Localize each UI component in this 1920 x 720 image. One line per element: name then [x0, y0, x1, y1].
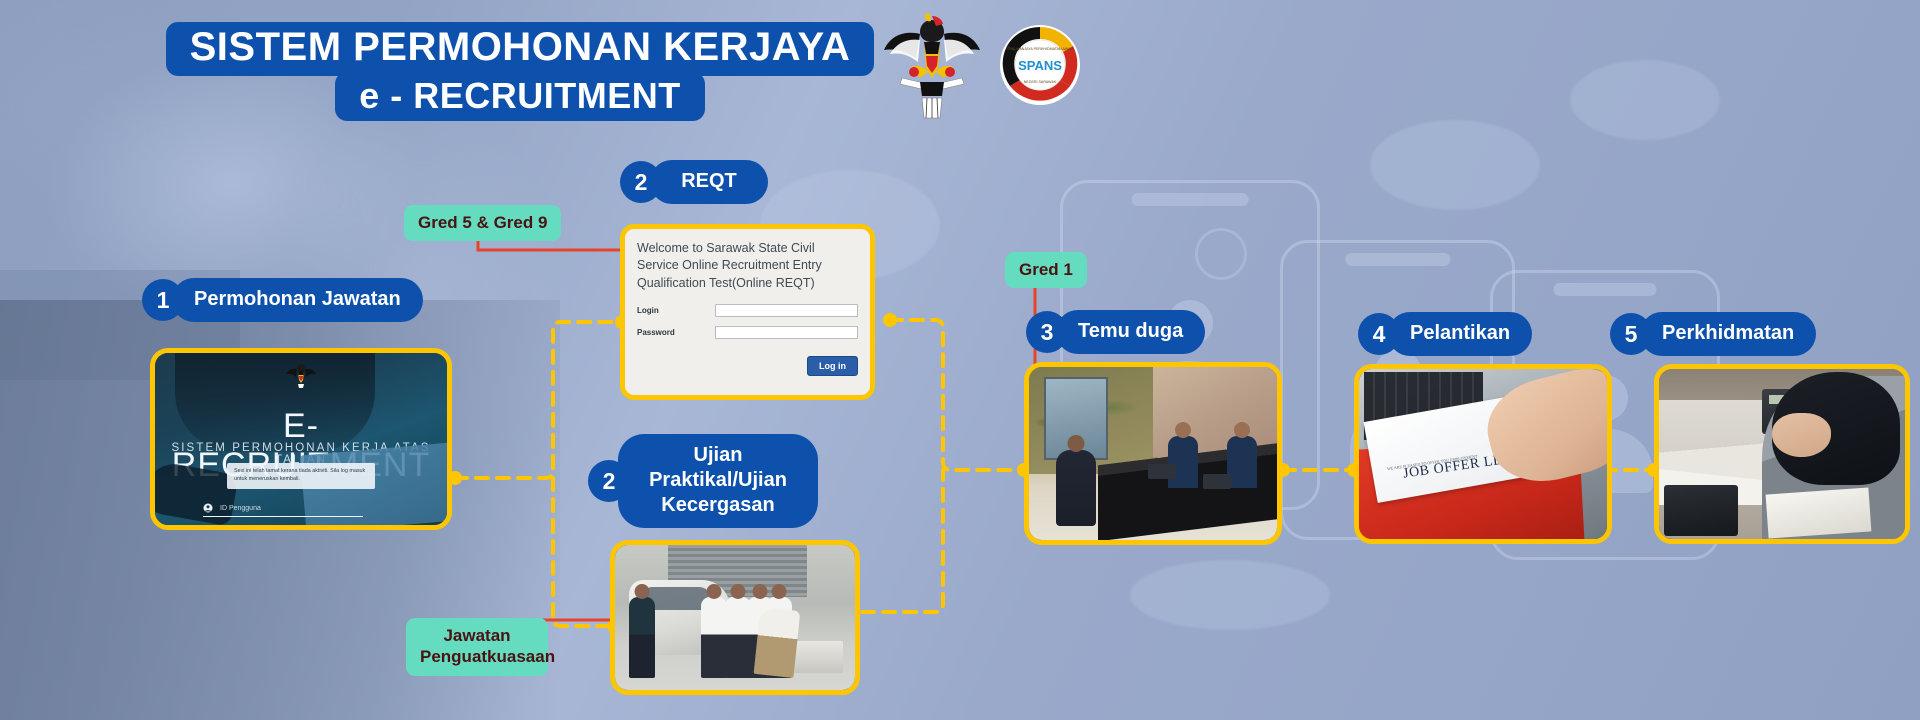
step-3-number: 3	[1026, 311, 1068, 353]
step-3-temu-duga[interactable]: 3 Temu duga	[1026, 310, 1205, 354]
reqt-password-row: Password	[637, 326, 858, 339]
step-5-number: 5	[1610, 313, 1652, 355]
infographic-canvas: SISTEM PERMOHONAN KERJAYA e - RECRUITMEN…	[0, 0, 1920, 720]
reqt-login-label: Login	[637, 306, 715, 315]
reqt-login-panel[interactable]: Welcome to Sarawak State Civil Service O…	[620, 224, 875, 400]
reqt-password-input[interactable]	[715, 326, 858, 339]
step-3-label: Temu duga	[1056, 310, 1205, 354]
title-line-1: SISTEM PERMOHONAN KERJAYA	[166, 22, 875, 76]
badge-watermark	[1195, 228, 1247, 280]
step-2-ujian-praktikal[interactable]: 2 Ujian Praktikal/Ujian Kecergasan	[588, 434, 818, 528]
reqt-login-input[interactable]	[715, 304, 858, 317]
user-circle-icon	[203, 503, 213, 513]
card-temu-duga-photo[interactable]	[1024, 362, 1282, 545]
photo-interview	[1029, 367, 1277, 540]
step-1-number: 1	[142, 279, 184, 321]
reqt-welcome-text: Welcome to Sarawak State Civil Service O…	[637, 240, 858, 292]
reqt-password-label: Password	[637, 328, 715, 337]
step-2-ujian-label: Ujian Praktikal/Ujian Kecergasan	[618, 434, 818, 528]
step-2-ujian-number: 2	[588, 460, 630, 502]
lock-icon	[203, 529, 213, 530]
logo-group: SPANS SURUHANJAYA PERKHIDMATAN AWAM NEGE…	[880, 6, 1082, 124]
step-1-permohonan-jawatan[interactable]: 1 Permohonan Jawatan	[142, 278, 423, 322]
step-2-reqt-number: 2	[620, 161, 662, 203]
photo-offer-letter: WE ARE PLEASED TO OFFER YOU EMPLOYMENT J…	[1359, 369, 1607, 539]
erec-user-field[interactable]: ID Pengguna	[203, 503, 363, 517]
step-2-reqt[interactable]: 2 REQT	[620, 160, 768, 204]
photo-service	[1659, 369, 1905, 539]
page-title: SISTEM PERMOHONAN KERJAYA e - RECRUITMEN…	[160, 22, 880, 121]
blob-watermark-4	[1130, 560, 1330, 630]
note-gred-1: Gred 1	[1005, 252, 1087, 288]
blob-watermark-1	[1370, 120, 1540, 210]
step-5-label: Perkhidmatan	[1640, 312, 1816, 356]
note-gred-1-text: Gred 1	[1019, 260, 1073, 279]
erec-session-message: Sesi ini telah tamat kerana tiada aktivi…	[227, 463, 375, 489]
card-pelantikan-photo[interactable]: WE ARE PLEASED TO OFFER YOU EMPLOYMENT J…	[1354, 364, 1612, 544]
step-4-pelantikan[interactable]: 4 Pelantikan	[1358, 312, 1532, 356]
reqt-login-row: Login	[637, 304, 858, 317]
svg-text:SPANS: SPANS	[1018, 58, 1062, 73]
svg-text:NEGERI SARAWAK: NEGERI SARAWAK	[1024, 80, 1057, 84]
step-2-reqt-label: REQT	[650, 160, 768, 204]
step-4-number: 4	[1358, 313, 1400, 355]
note-gred-5-9: Gred 5 & Gred 9	[404, 205, 561, 241]
step-4-label: Pelantikan	[1388, 312, 1532, 356]
reqt-login-button[interactable]: Log in	[807, 356, 858, 376]
sarawak-coat-of-arms-icon	[880, 6, 984, 124]
photo-practical-test	[615, 545, 855, 690]
svg-text:SURUHANJAYA PERKHIDMATAN AWAM: SURUHANJAYA PERKHIDMATAN AWAM	[1007, 47, 1074, 51]
spans-logo-icon: SPANS SURUHANJAYA PERKHIDMATAN AWAM NEGE…	[998, 23, 1082, 107]
card-perkhidmatan-photo[interactable]	[1654, 364, 1910, 544]
note-jawatan-penguatkuasaan: Jawatan Penguatkuasaan	[406, 618, 548, 676]
title-line-2: e - RECRUITMENT	[335, 72, 705, 121]
note-jawatan-line2: Penguatkuasaan	[420, 647, 555, 666]
note-jawatan-line1: Jawatan	[443, 626, 510, 645]
step-1-label: Permohonan Jawatan	[172, 278, 423, 322]
card-erecruitment-login[interactable]: E-RECRUITMENT SISTEM PERMOHONAN KERJA AT…	[150, 348, 452, 530]
note-gred-5-9-text: Gred 5 & Gred 9	[418, 213, 547, 232]
step-5-perkhidmatan[interactable]: 5 Perkhidmatan	[1610, 312, 1816, 356]
erec-password-field[interactable]: Kata Laluan	[203, 529, 363, 530]
erec-crest-icon	[286, 359, 316, 389]
card-ujian-praktikal-photo[interactable]	[610, 540, 860, 695]
erec-user-label: ID Pengguna	[220, 505, 261, 512]
blob-watermark-2	[1570, 60, 1720, 140]
